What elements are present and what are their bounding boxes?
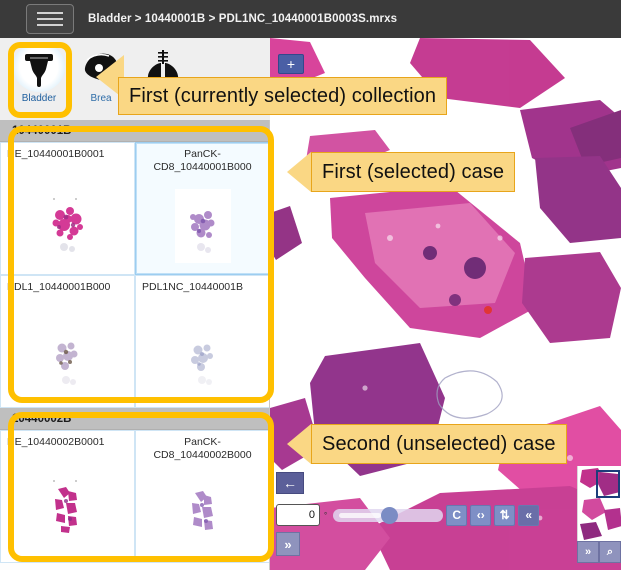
callout-case1: First (selected) case bbox=[287, 152, 515, 192]
minimap-magnify-icon[interactable]: ⌕ bbox=[599, 541, 621, 563]
tissue-preview bbox=[175, 189, 231, 263]
slide-label: HE_10440001B0001 bbox=[1, 148, 134, 161]
callout-case1-body: First (selected) case bbox=[311, 152, 515, 192]
slide-thumbnail-grid[interactable]: HE_10440001B0001 bbox=[0, 142, 270, 408]
minimap-buttons[interactable]: » ⌕ bbox=[577, 541, 621, 563]
rotate-reset-icon[interactable]: C bbox=[446, 505, 467, 526]
tissue-preview bbox=[40, 322, 96, 396]
tissue-preview bbox=[40, 471, 96, 545]
collection-label-bladder: Bladder bbox=[22, 93, 56, 104]
hamburger-icon[interactable] bbox=[26, 4, 74, 34]
app-header: Bladder > 10440001B > PDL1NC_10440001B00… bbox=[0, 0, 621, 38]
tissue-preview bbox=[175, 471, 231, 545]
slide-viewer[interactable]: + ← 0 ° C ‹› ⇅ « » bbox=[270, 38, 621, 570]
slide-label: HE_10440002B0001 bbox=[1, 436, 134, 449]
minimap[interactable] bbox=[577, 466, 621, 541]
callout-case1-arrow bbox=[287, 152, 311, 192]
degree-symbol: ° bbox=[324, 511, 327, 520]
slide-label: PanCK-CD8_10440001B000 bbox=[136, 148, 269, 174]
slide-label: PanCK-CD8_10440002B000 bbox=[136, 436, 269, 462]
slide-thumbnail[interactable]: HE_10440002B0001 bbox=[0, 430, 135, 563]
breadcrumb: Bladder > 10440001B > PDL1NC_10440001B00… bbox=[88, 13, 397, 25]
collapse-panel-icon[interactable]: « bbox=[518, 505, 539, 526]
minimap-expand-icon[interactable]: » bbox=[577, 541, 599, 563]
slide-thumbnail[interactable]: HE_10440001B0001 bbox=[0, 142, 135, 275]
slide-label: PDL1_10440001B000 bbox=[1, 281, 134, 294]
slide-thumbnail-selected[interactable]: PanCK-CD8_10440001B000 bbox=[135, 142, 270, 275]
case-thumbnail-panel[interactable]: 10440001B HE_10440001B0001 bbox=[0, 120, 270, 570]
case-10440001B[interactable]: 10440001B HE_10440001B0001 bbox=[0, 120, 270, 408]
viewer-forward-button[interactable]: » bbox=[276, 532, 300, 556]
callout-case1-text: First (selected) case bbox=[322, 161, 504, 184]
callout-case2-body: Second (unselected) case bbox=[311, 424, 567, 464]
callout-case2-text: Second (unselected) case bbox=[322, 433, 556, 456]
callout-case2: Second (unselected) case bbox=[287, 424, 567, 464]
minimap-viewport-rect[interactable] bbox=[596, 470, 620, 498]
flip-horizontal-icon[interactable]: ‹› bbox=[470, 505, 491, 526]
add-slide-button[interactable]: + bbox=[278, 54, 304, 74]
tissue-preview bbox=[40, 189, 96, 263]
callout-case2-arrow bbox=[287, 424, 311, 464]
callout-collection-body: First (currently selected) collection bbox=[118, 77, 447, 115]
viewer-back-button[interactable]: ← bbox=[276, 472, 304, 494]
case-header[interactable]: 10440001B bbox=[0, 120, 270, 142]
rotation-input[interactable]: 0 bbox=[276, 504, 320, 526]
flip-vertical-icon[interactable]: ⇅ bbox=[494, 505, 515, 526]
slide-thumbnail[interactable]: PanCK-CD8_10440002B000 bbox=[135, 430, 270, 563]
collection-tab-bladder[interactable]: Bladder bbox=[8, 38, 70, 116]
whole-slide-image[interactable] bbox=[270, 38, 621, 570]
bladder-icon bbox=[13, 42, 65, 92]
slide-thumbnail-grid[interactable]: HE_10440002B0001 bbox=[0, 430, 270, 563]
case-header[interactable]: 10440002B bbox=[0, 408, 270, 430]
callout-collection: First (currently selected) collection bbox=[118, 76, 447, 116]
slide-label: PDL1NC_10440001B bbox=[136, 281, 269, 294]
slider-knob[interactable] bbox=[381, 507, 398, 524]
slider-track-fill bbox=[339, 513, 381, 518]
case-10440002B[interactable]: 10440002B HE_10440002B0001 bbox=[0, 408, 270, 563]
slide-thumbnail[interactable]: PDL1NC_10440001B bbox=[135, 275, 270, 408]
callout-collection-text: First (currently selected) collection bbox=[129, 85, 436, 108]
rotation-toolbar[interactable]: 0 ° C ‹› ⇅ « bbox=[276, 500, 539, 530]
tissue-preview bbox=[175, 322, 231, 396]
rotation-slider[interactable] bbox=[333, 509, 443, 522]
application-window: + ← 0 ° C ‹› ⇅ « » bbox=[0, 0, 621, 570]
slide-thumbnail[interactable]: PDL1_10440001B000 bbox=[0, 275, 135, 408]
